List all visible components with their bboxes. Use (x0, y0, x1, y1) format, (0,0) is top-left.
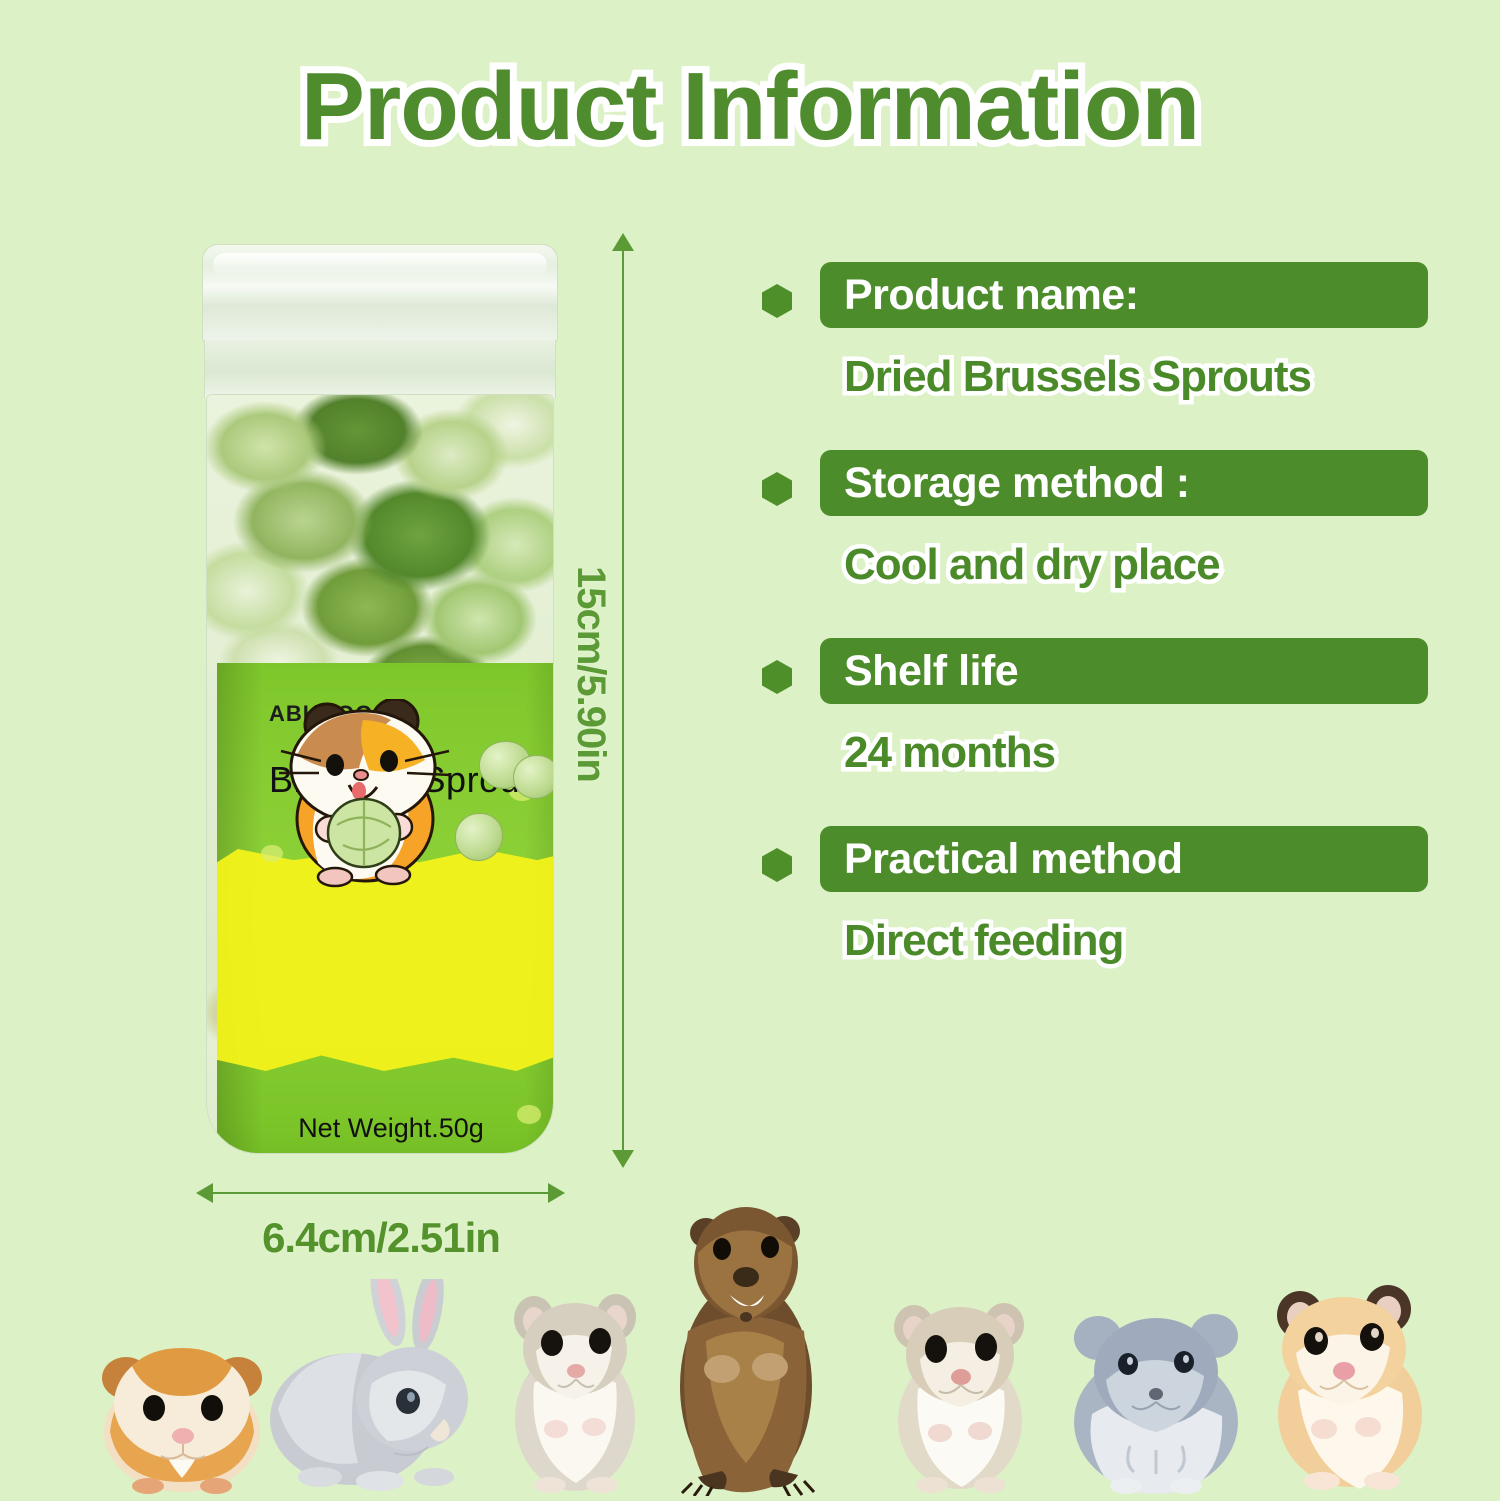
animal-hamster (1258, 1279, 1438, 1494)
hexagon-bullet-icon (762, 660, 792, 694)
product-jar: ABI|ZOO Brussels Sprouts (196, 244, 564, 1154)
info-value-text: Dried Brussels Sprouts (844, 352, 1442, 402)
info-row-practical-method: Practical method Direct feeding (762, 826, 1442, 966)
jar-lid (202, 244, 558, 344)
info-value-text: Cool and dry place (844, 540, 1442, 590)
hexagon-bullet-icon (762, 472, 792, 506)
page-title-container: Product Information (0, 52, 1500, 162)
dimension-line-horizontal (208, 1192, 552, 1194)
dimension-arrow-down-icon (612, 1150, 634, 1168)
info-label-text: Practical method (844, 835, 1183, 884)
dimension-line-vertical (622, 245, 624, 1155)
product-info-list: Product name: Dried Brussels Sprouts Sto… (762, 262, 1442, 1014)
info-label-text: Storage method : (844, 459, 1190, 508)
info-row-product-name: Product name: Dried Brussels Sprouts (762, 262, 1442, 402)
jar-body: ABI|ZOO Brussels Sprouts (206, 394, 554, 1154)
info-label-text: Product name: (844, 271, 1139, 320)
sprout-decoration-icon (513, 755, 554, 799)
info-label-text: Shelf life (844, 647, 1018, 696)
info-row-shelf-life: Shelf life 24 months (762, 638, 1442, 778)
animal-guinea-pig (92, 1312, 272, 1494)
info-label-bar: Product name: (820, 262, 1428, 328)
animal-prairie-dog (658, 1191, 838, 1496)
animal-gerbil (500, 1279, 650, 1494)
page-title: Product Information (301, 52, 1199, 162)
jar-net-weight: Net Weight.50g (217, 1113, 554, 1144)
animal-chinchilla (1066, 1294, 1246, 1494)
info-row-storage-method: Storage method : Cool and dry place (762, 450, 1442, 590)
animal-rabbit (268, 1279, 478, 1494)
hamster-mascot-icon (273, 699, 473, 889)
info-label-bar: Practical method (820, 826, 1428, 892)
dimension-height-label: 15cm/5.90in (568, 566, 613, 782)
target-animals-row (0, 1200, 1500, 1500)
info-label-bar: Storage method : (820, 450, 1428, 516)
hexagon-bullet-icon (762, 848, 792, 882)
info-value-text: Direct feeding (844, 916, 1442, 966)
jar-product-label: ABI|ZOO Brussels Sprouts (217, 663, 554, 1154)
jar-neck (204, 340, 556, 398)
info-label-bar: Shelf life (820, 638, 1428, 704)
animal-mouse (880, 1289, 1040, 1494)
info-value-text: 24 months (844, 728, 1442, 778)
hexagon-bullet-icon (762, 284, 792, 318)
